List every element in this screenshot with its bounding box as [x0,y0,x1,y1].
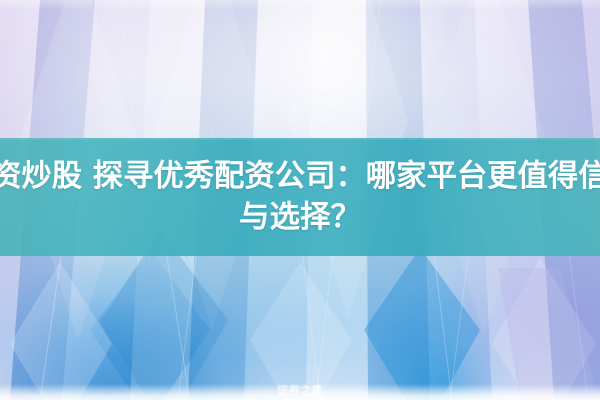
headline-text-container: 配资炒股 探寻优秀配资公司：哪家平台更值得信赖 与选择？ [0,138,600,256]
headline-band: 配资炒股 探寻优秀配资公司：哪家平台更值得信赖 与选择？ [0,138,600,256]
top-light-fade [0,0,600,10]
banner-image: 配资炒股 探寻优秀配资公司：哪家平台更值得信赖 与选择？ 证券之星 [0,0,600,400]
headline-line-2: 与选择？ [239,198,361,237]
headline-line-1: 配资炒股 探寻优秀配资公司：哪家平台更值得信赖 [0,157,600,196]
watermark-text: 证券之星 [0,385,600,396]
